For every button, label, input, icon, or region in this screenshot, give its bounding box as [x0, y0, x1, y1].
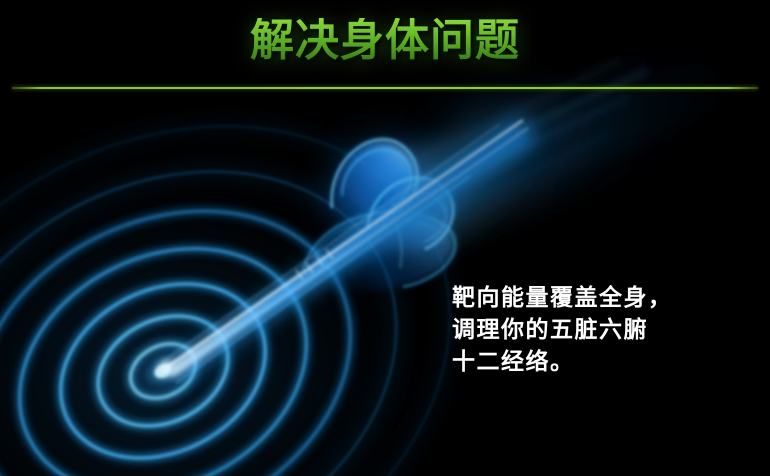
dart-target-artwork	[0, 0, 770, 476]
title-container: 解决身体问题	[0, 18, 770, 65]
copy-line-2: 调理你的五脏六腑	[452, 314, 673, 346]
header-divider-rule	[12, 87, 758, 89]
copy-line-1: 靶向能量覆盖全身，	[452, 282, 673, 314]
promo-banner: 解决身体问题 靶向能量覆盖全身， 调理你的五脏六腑 十二经络。	[0, 0, 770, 476]
marketing-copy: 靶向能量覆盖全身， 调理你的五脏六腑 十二经络。	[452, 282, 673, 378]
copy-line-3: 十二经络。	[452, 346, 673, 378]
page-title: 解决身体问题	[250, 18, 520, 65]
